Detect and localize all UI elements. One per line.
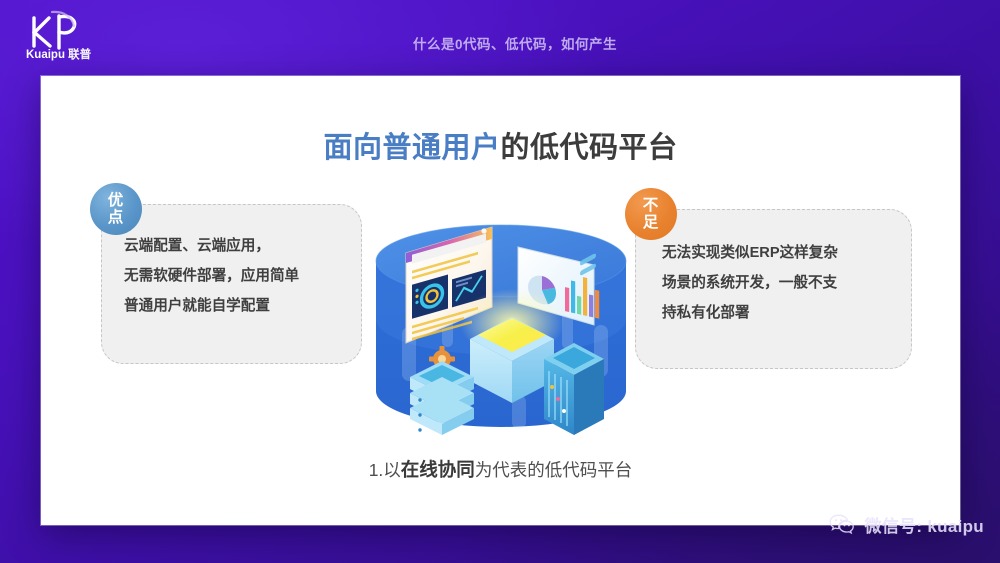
pros-line-1: 云端配置、云端应用， (124, 231, 347, 261)
cons-text: 无法实现类似ERP这样复杂 场景的系统开发，一般不支 持私有化部署 (662, 238, 897, 328)
slide-card: 面向普通用户的低代码平台 云端配置、云端应用， 无需软硬件部署，应用简单 普通用… (41, 76, 960, 525)
pros-line-3: 普通用户就能自学配置 (124, 291, 347, 321)
page-title-highlight: 面向普通用户 (323, 132, 500, 164)
cons-line-3: 持私有化部署 (662, 298, 897, 328)
pros-line-2: 无需软硬件部署，应用简单 (124, 261, 347, 291)
cons-badge-line-2: 足 (643, 214, 660, 231)
wechat-watermark: 微信号: kuaipu (829, 512, 984, 537)
page-title: 面向普通用户的低代码平台 (41, 124, 960, 166)
cons-line-2: 场景的系统开发，一般不支 (662, 268, 897, 298)
pros-text: 云端配置、云端应用， 无需软硬件部署，应用简单 普通用户就能自学配置 (124, 231, 347, 321)
isometric-cloud-platform-illustration (366, 199, 636, 454)
illustration-caption: 1.以在线协同为代表的低代码平台 (41, 456, 960, 482)
page-title-rest: 的低代码平台 (501, 132, 678, 164)
cons-badge: 不 足 (625, 188, 677, 240)
caption-bold: 在线协同 (401, 459, 475, 480)
caption-prefix: 1.以 (369, 460, 401, 480)
watermark-text: 微信号: kuaipu (865, 512, 984, 537)
cons-line-1: 无法实现类似ERP这样复杂 (662, 238, 897, 268)
wechat-icon (829, 514, 856, 536)
pros-badge-line-2: 点 (108, 209, 125, 226)
pros-box: 云端配置、云端应用， 无需软硬件部署，应用简单 普通用户就能自学配置 (101, 204, 362, 364)
caption-suffix: 为代表的低代码平台 (475, 460, 633, 480)
pros-badge-line-1: 优 (108, 192, 125, 209)
pros-badge: 优 点 (90, 183, 142, 235)
cons-badge-line-1: 不 (643, 197, 660, 214)
cons-box: 无法实现类似ERP这样复杂 场景的系统开发，一般不支 持私有化部署 (635, 209, 912, 369)
deck-header-title: 什么是0代码、低代码，如何产生 (0, 33, 1000, 53)
